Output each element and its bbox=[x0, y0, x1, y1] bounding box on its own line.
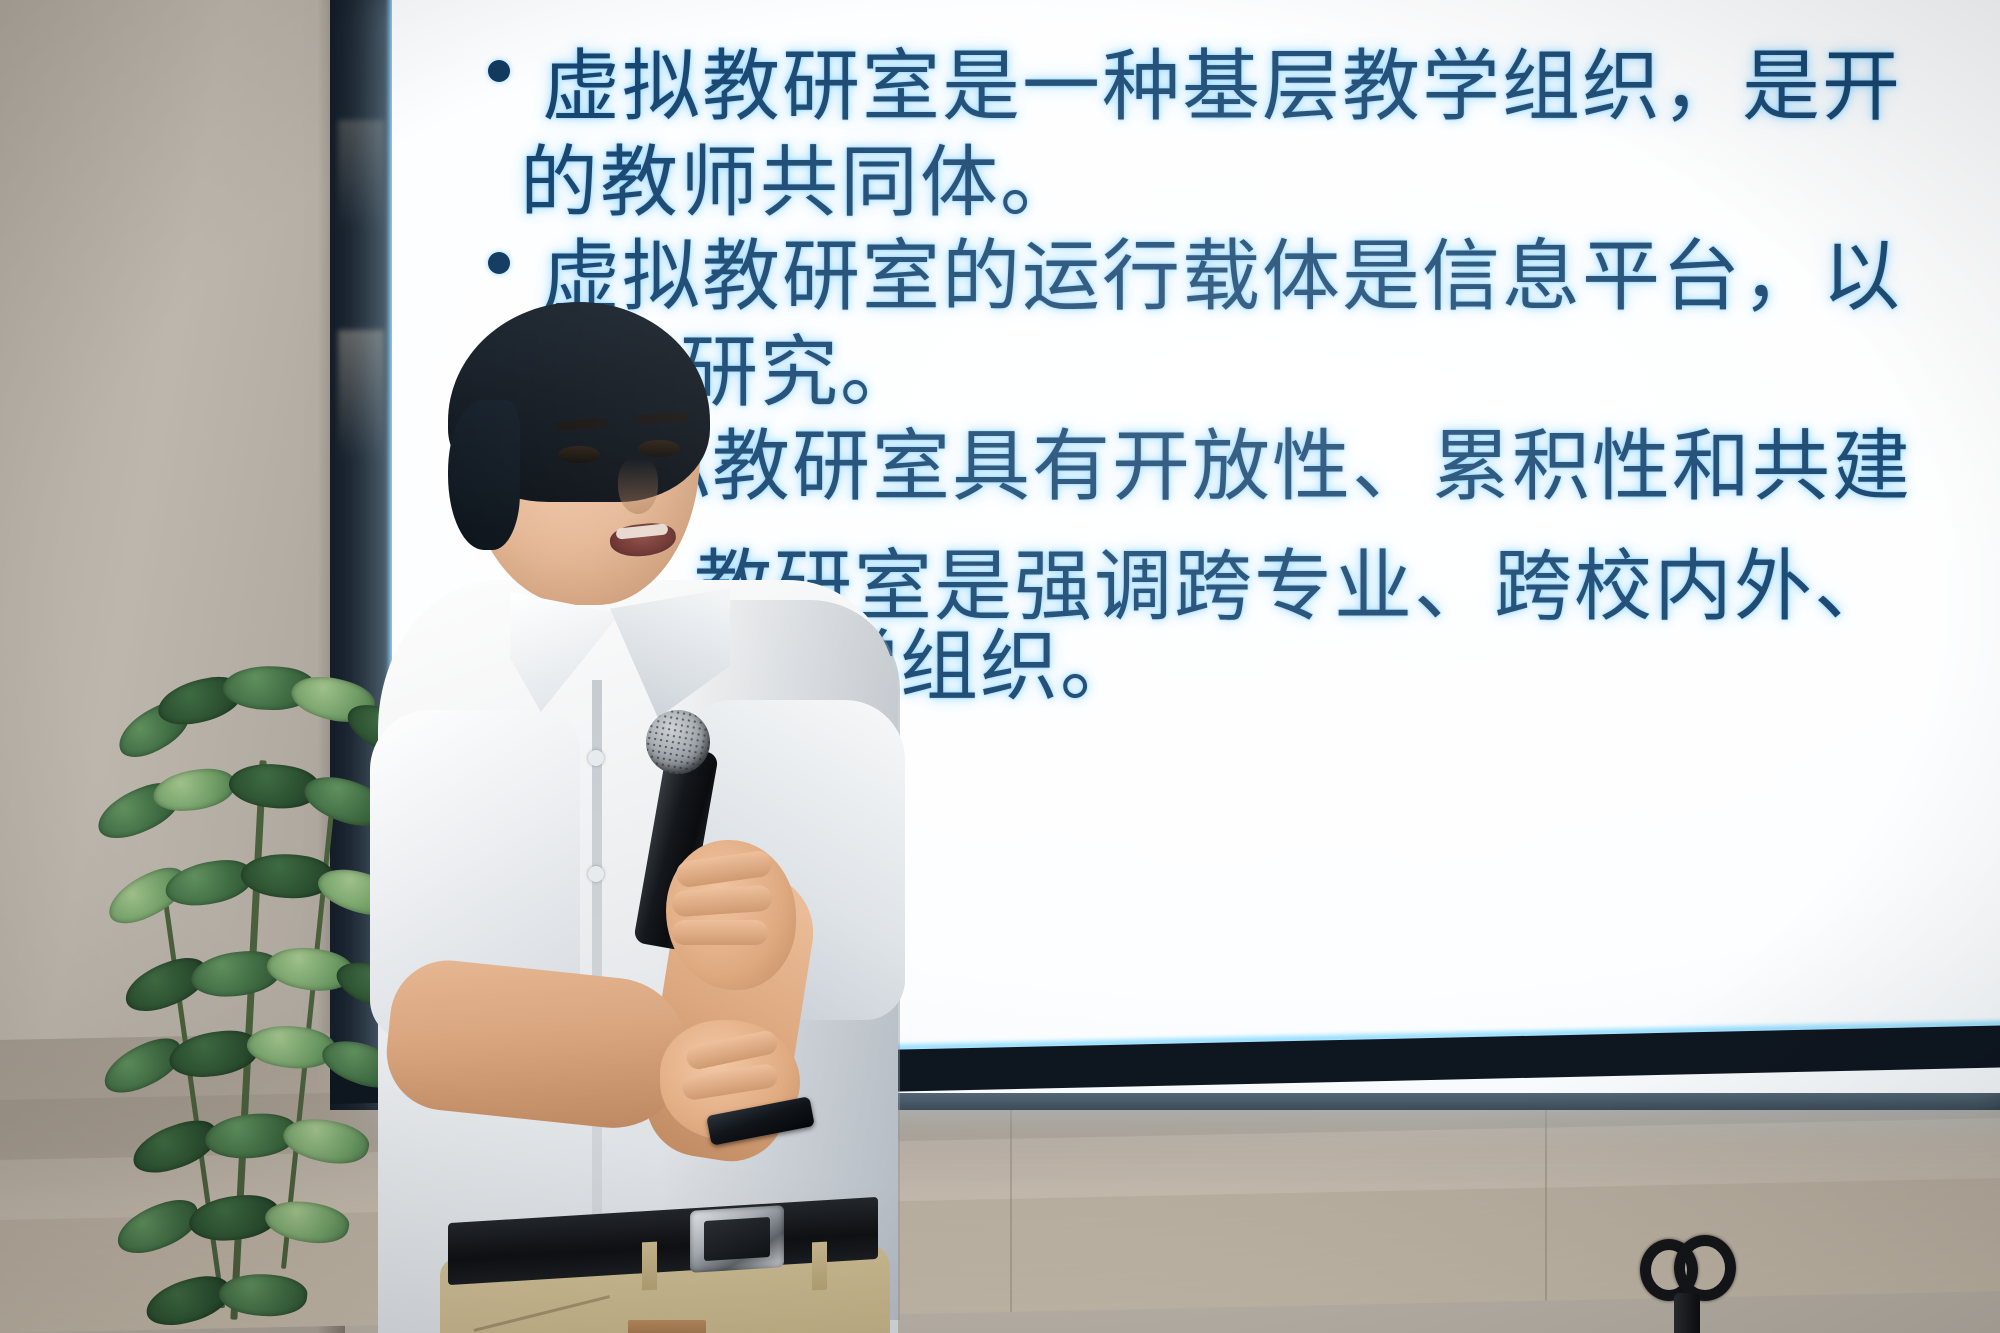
bullet-marker-1 bbox=[488, 60, 510, 82]
shirt-button bbox=[588, 866, 604, 882]
eye-right bbox=[638, 440, 680, 457]
clip-post bbox=[1674, 1293, 1700, 1333]
finger bbox=[672, 920, 768, 945]
belt-loop bbox=[812, 1242, 827, 1291]
trouser-tag bbox=[628, 1320, 706, 1333]
presentation-photo-scene: 虚拟教研室是一种基层教学组织，是开 的教师共同体。 虚拟教研室的运行载体是信息平… bbox=[0, 0, 2000, 1333]
belt-buckle bbox=[690, 1205, 784, 1273]
microphone-clip bbox=[1640, 1235, 1730, 1333]
shirt-button bbox=[588, 750, 604, 766]
hair-sideburn bbox=[448, 400, 520, 550]
bullet-marker-2 bbox=[488, 252, 510, 274]
nose bbox=[618, 458, 658, 514]
presenter bbox=[360, 280, 1000, 1333]
eye-left bbox=[558, 446, 600, 463]
eyebrow-right bbox=[636, 413, 688, 424]
belt-loop bbox=[642, 1242, 657, 1291]
clip-ring-right bbox=[1674, 1235, 1736, 1301]
